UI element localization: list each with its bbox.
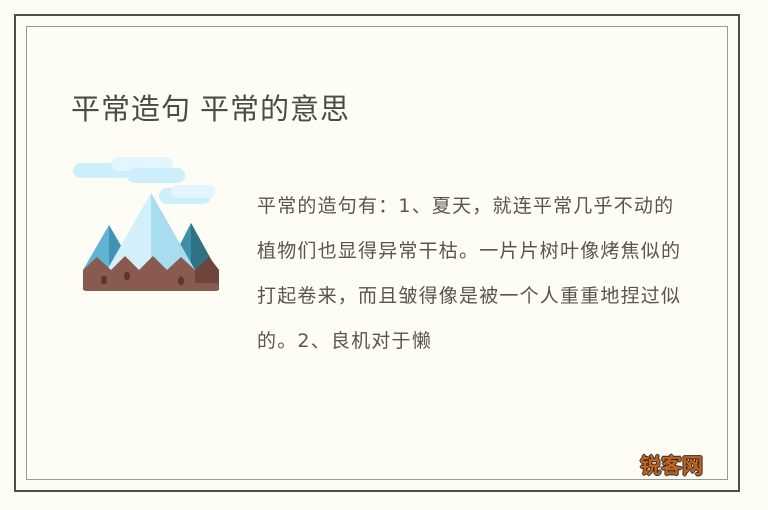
article-body: 平常的造句有：1、夏天，就连平常几乎不动的植物们也显得异常干枯。一片片树叶像烤焦… <box>257 184 687 364</box>
page-inner-frame: 平常造句 平常的意思 <box>26 26 728 480</box>
site-watermark: 锐客网 <box>640 456 703 477</box>
page-frame: 平常造句 平常的意思 <box>14 14 740 492</box>
page-title: 平常造句 平常的意思 <box>71 90 350 130</box>
mountain-landscape-icon <box>71 155 233 307</box>
